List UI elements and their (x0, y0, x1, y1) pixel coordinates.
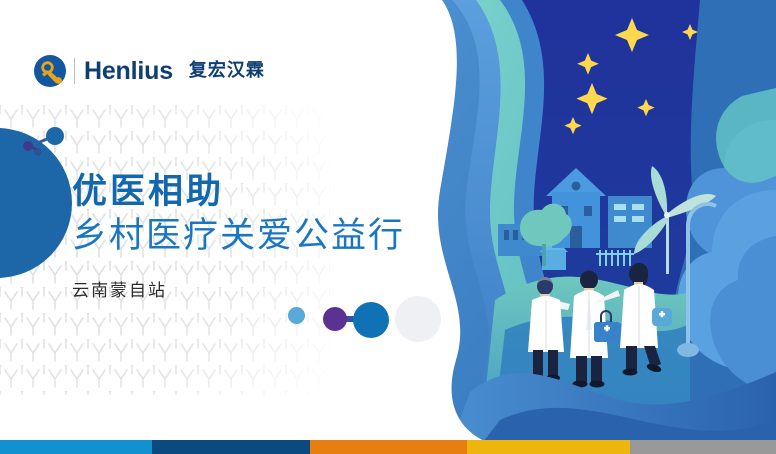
village-block-window (632, 216, 644, 222)
title-slide: Henlius 复宏汉霖 优医相助 乡村医疗关爱公益行 云南蒙自站 (0, 0, 776, 454)
village-block-window (614, 204, 626, 210)
village-block-window (614, 216, 626, 222)
village-house-attic-window (572, 182, 581, 191)
medical-cross-badge (652, 308, 672, 326)
segment-gold (467, 440, 630, 454)
headline-line-2: 乡村医疗关爱公益行 (72, 215, 405, 257)
small-accent-dot (288, 307, 305, 324)
village-building-window (513, 230, 518, 240)
logo-chinese-name: 复宏汉霖 (189, 62, 265, 80)
logo-wordmark: Henlius (84, 59, 173, 84)
henlius-logo: Henlius 复宏汉霖 (33, 52, 265, 90)
village-building-window (504, 230, 509, 240)
village-house-window (584, 206, 592, 216)
logo-divider (74, 58, 75, 84)
henlius-emblem-icon (33, 54, 67, 88)
village-house-door (570, 226, 582, 248)
molecule-dumbbell-mid (317, 296, 399, 342)
subtitle-text: 云南蒙自站 (72, 276, 167, 301)
headline-line-1: 优医相助 (72, 172, 405, 213)
segment-gray (630, 440, 776, 454)
ghost-accent-circle (395, 296, 441, 342)
headline-block: 优医相助 乡村医疗关爱公益行 (72, 172, 405, 257)
segment-orange (310, 440, 467, 454)
village-block-window (632, 204, 644, 210)
segment-light-blue (0, 440, 152, 454)
segment-navy (152, 440, 310, 454)
bottom-color-bar (0, 440, 776, 454)
molecule-dumbbell-top (16, 126, 74, 160)
